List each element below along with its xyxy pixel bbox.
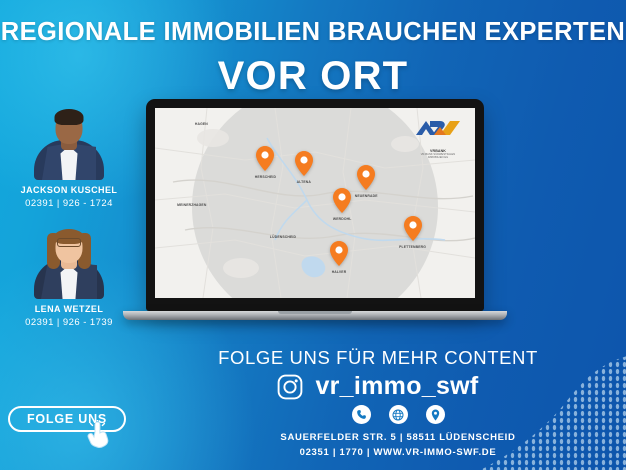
- map-area-label: HAGEN: [195, 122, 208, 126]
- social-handle[interactable]: vr_immo_swf: [315, 374, 478, 399]
- map-area-label: MEINERZHAGEN: [177, 203, 206, 207]
- contact-footer: SAUERFELDER STR. 5 | 58511 LÜDENSCHEID 0…: [170, 405, 626, 460]
- promotional-poster: REGIONALE IMMOBILIEN BRAUCHEN EXPERTEN V…: [0, 0, 626, 470]
- laptop-mockup: HAGEN LÜDENSCHEID MEINERZHAGEN HERSCHEID…: [146, 99, 507, 320]
- headline-secondary: VOR ORT: [0, 56, 626, 96]
- location-pin-icon[interactable]: [426, 405, 445, 424]
- laptop-screen: HAGEN LÜDENSCHEID MEINERZHAGEN HERSCHEID…: [155, 108, 475, 298]
- agent-phone: 02391 | 926 - 1739: [0, 317, 138, 328]
- avatar: [32, 223, 106, 299]
- map-pin-label: NEUENRADE: [355, 194, 378, 198]
- map-pin[interactable]: [295, 151, 313, 176]
- contact-phone-web: 02351 | 1770 | WWW.VR-IMMO-SWF.DE: [170, 446, 626, 461]
- map-pin-label: WERDOHL: [333, 217, 352, 221]
- map-pin[interactable]: [256, 146, 274, 171]
- laptop-lid: HAGEN LÜDENSCHEID MEINERZHAGEN HERSCHEID…: [146, 99, 484, 311]
- contact-address: SAUERFELDER STR. 5 | 58511 LÜDENSCHEID: [170, 431, 626, 446]
- social-handle-row[interactable]: vr_immo_swf: [130, 374, 626, 400]
- map-pin-label: HALVER: [332, 270, 347, 274]
- laptop-trackpad-notch: [278, 311, 352, 314]
- vr-bank-logo: VRBANK VR-BANK SÜDWESTFALEN IMMOBILIEN E…: [408, 115, 468, 159]
- social-cta-block: FOLGE UNS FÜR MEHR CONTENT vr_immo_swf: [130, 349, 626, 400]
- agent-card: LENA WETZEL 02391 | 926 - 1739: [0, 223, 138, 328]
- map-pin[interactable]: [404, 216, 422, 241]
- map-area-label: LÜDENSCHEID: [270, 235, 296, 239]
- agent-name: JACKSON KUSCHEL: [0, 185, 138, 195]
- agent-card: JACKSON KUSCHEL 02391 | 926 - 1724: [0, 104, 138, 209]
- headline-block: REGIONALE IMMOBILIEN BRAUCHEN EXPERTEN V…: [0, 20, 626, 96]
- vr-bank-logo-mark: [410, 115, 466, 143]
- instagram-icon[interactable]: [277, 374, 303, 400]
- agent-name: LENA WETZEL: [0, 304, 138, 314]
- map-pin-label: ALTENA: [297, 180, 311, 184]
- phone-icon[interactable]: [352, 405, 371, 424]
- agent-phone: 02391 | 926 - 1724: [0, 198, 138, 209]
- map-canvas[interactable]: HAGEN LÜDENSCHEID MEINERZHAGEN HERSCHEID…: [155, 108, 475, 298]
- map-pin-label: PLETTENBERG: [399, 245, 426, 249]
- contact-icon-row: [170, 405, 626, 424]
- social-cta-title: FOLGE UNS FÜR MEHR CONTENT: [130, 349, 626, 368]
- map-pin[interactable]: [357, 165, 375, 190]
- laptop-base: [123, 311, 507, 320]
- agent-list: JACKSON KUSCHEL 02391 | 926 - 1724 LENA …: [0, 104, 138, 342]
- globe-icon[interactable]: [389, 405, 408, 424]
- avatar: [32, 104, 106, 180]
- map-pin[interactable]: [330, 241, 348, 266]
- map-pin[interactable]: [333, 188, 351, 213]
- headline-primary: REGIONALE IMMOBILIEN BRAUCHEN EXPERTEN: [0, 20, 626, 46]
- pointing-hand-cursor-icon: [85, 420, 111, 450]
- map-pin-label: HERSCHEID: [255, 175, 276, 179]
- vr-bank-logo-subcaption: IMMOBILIEN EG: [408, 156, 468, 159]
